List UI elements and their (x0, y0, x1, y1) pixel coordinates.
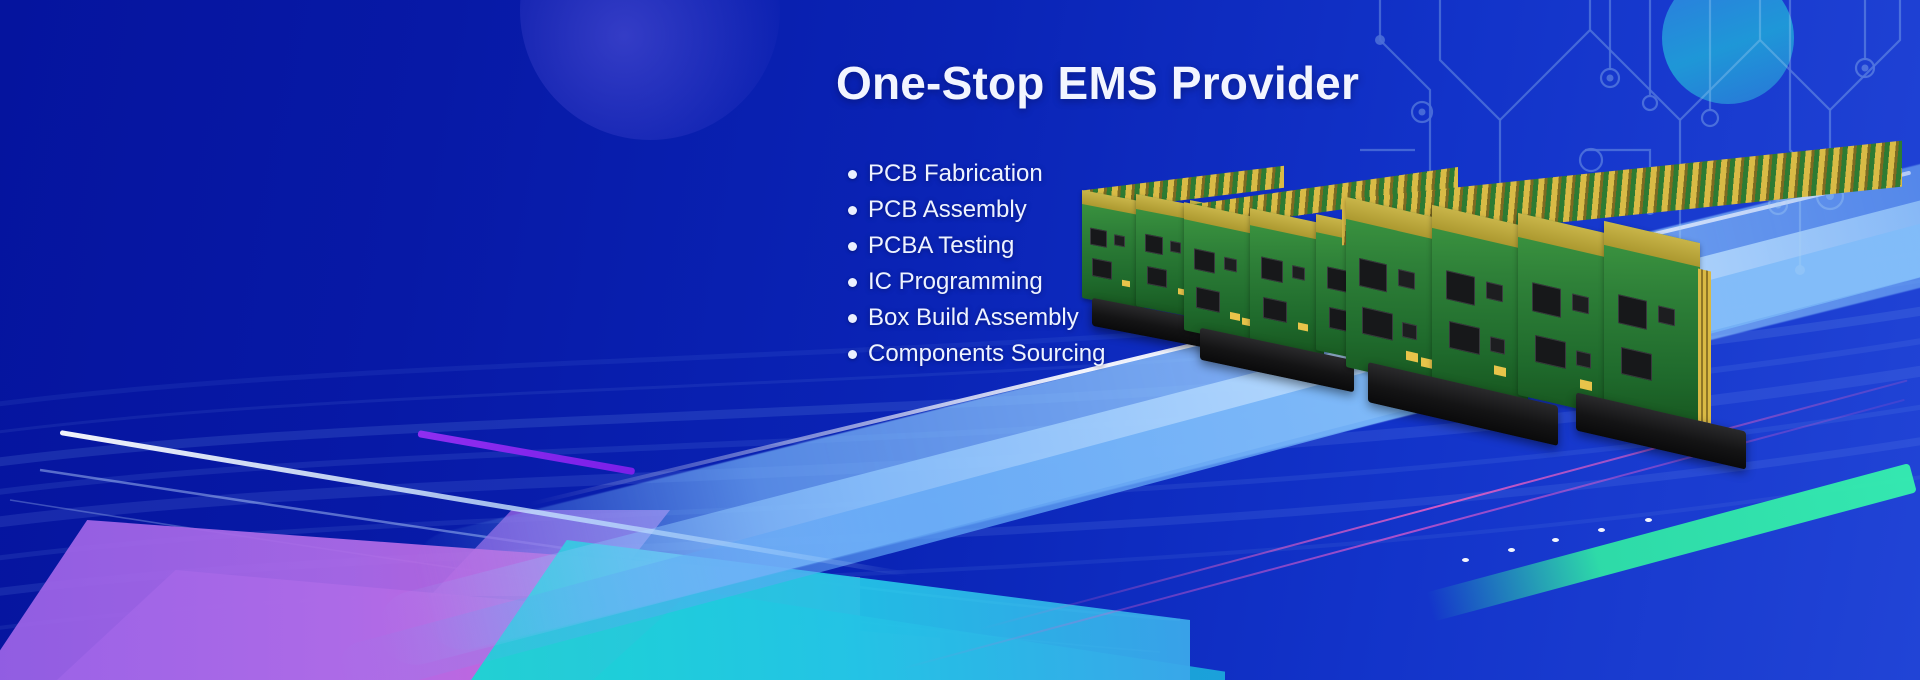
feature-label: PCBA Testing (868, 232, 1014, 260)
banner-content: One-Stop EMS Provider PCB Fabrication PC… (0, 0, 1920, 680)
list-item: Components Sourcing (848, 336, 1105, 372)
service-feature-list: PCB Fabrication PCB Assembly PCBA Testin… (848, 156, 1105, 372)
page-title: One-Stop EMS Provider (836, 58, 1436, 109)
bullet-icon (848, 278, 857, 287)
list-item: PCB Assembly (848, 192, 1105, 228)
list-item: IC Programming (848, 264, 1105, 300)
feature-label: Box Build Assembly (868, 304, 1079, 332)
list-item: Box Build Assembly (848, 300, 1105, 336)
feature-label: PCB Fabrication (868, 160, 1043, 188)
list-item: PCB Fabrication (848, 156, 1105, 192)
bullet-icon (848, 206, 857, 215)
hero-banner: One-Stop EMS Provider PCB Fabrication PC… (0, 0, 1920, 680)
bullet-icon (848, 314, 857, 323)
bullet-icon (848, 170, 857, 179)
list-item: PCBA Testing (848, 228, 1105, 264)
feature-label: IC Programming (868, 268, 1043, 296)
bullet-icon (848, 350, 857, 359)
feature-label: PCB Assembly (868, 196, 1027, 224)
bullet-icon (848, 242, 857, 251)
feature-label: Components Sourcing (868, 340, 1105, 368)
